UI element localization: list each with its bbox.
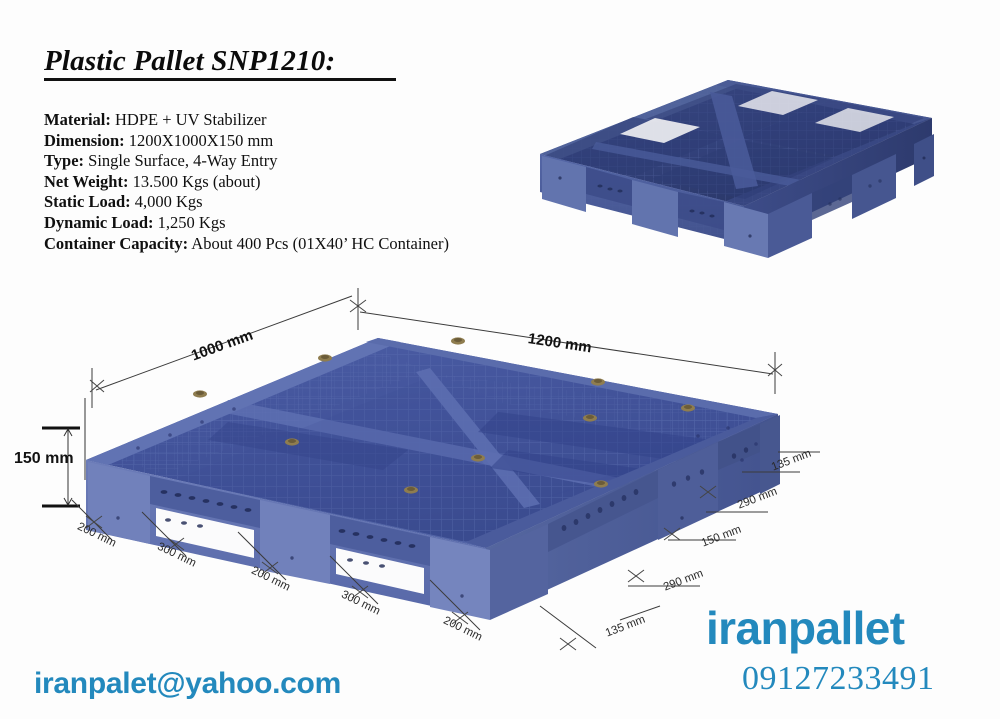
spec-value: 1200X1000X150 mm [129, 131, 273, 150]
contact-phone[interactable]: 09127233491 [742, 660, 935, 698]
spec-label: Static Load: [44, 192, 131, 211]
page-canvas: Plastic Pallet SNP1210: Material: HDPE +… [0, 0, 1000, 719]
title-underline [44, 78, 396, 81]
spec-row: Container Capacity: About 400 Pcs (01X40… [44, 234, 484, 255]
spec-label: Type: [44, 151, 84, 170]
title-block: Plastic Pallet SNP1210: [44, 46, 414, 81]
page-title: Plastic Pallet SNP1210: [44, 46, 414, 76]
spec-row: Net Weight: 13.500 Kgs (about) [44, 172, 484, 193]
spec-value: About 400 Pcs (01X40’ HC Container) [191, 234, 449, 253]
spec-label: Dimension: [44, 131, 125, 150]
spec-row: Dimension: 1200X1000X150 mm [44, 131, 484, 152]
spec-row: Static Load: 4,000 Kgs [44, 192, 484, 213]
spec-row: Type: Single Surface, 4-Way Entry [44, 151, 484, 172]
spec-value: 4,000 Kgs [135, 192, 203, 211]
spec-label: Net Weight: [44, 172, 128, 191]
spec-label: Dynamic Load: [44, 213, 154, 232]
spec-value: 13.500 Kgs (about) [133, 172, 261, 191]
specification-list: Material: HDPE + UV Stabilizer Dimension… [44, 110, 484, 254]
spec-row: Dynamic Load: 1,250 Kgs [44, 213, 484, 234]
pallet-dimension-drawing [78, 332, 804, 632]
spec-label: Container Capacity: [44, 234, 188, 253]
spec-label: Material: [44, 110, 111, 129]
dimension-label-height-left: 150 mm [14, 450, 74, 468]
spec-value: Single Surface, 4-Way Entry [88, 151, 277, 170]
spec-value: HDPE + UV Stabilizer [115, 110, 267, 129]
spec-value: 1,250 Kgs [158, 213, 226, 232]
contact-email[interactable]: iranpalet@yahoo.com [34, 667, 341, 701]
pallet-product-photo [500, 58, 970, 268]
spec-row: Material: HDPE + UV Stabilizer [44, 110, 484, 131]
company-logo-text: iranpallet [706, 601, 905, 655]
